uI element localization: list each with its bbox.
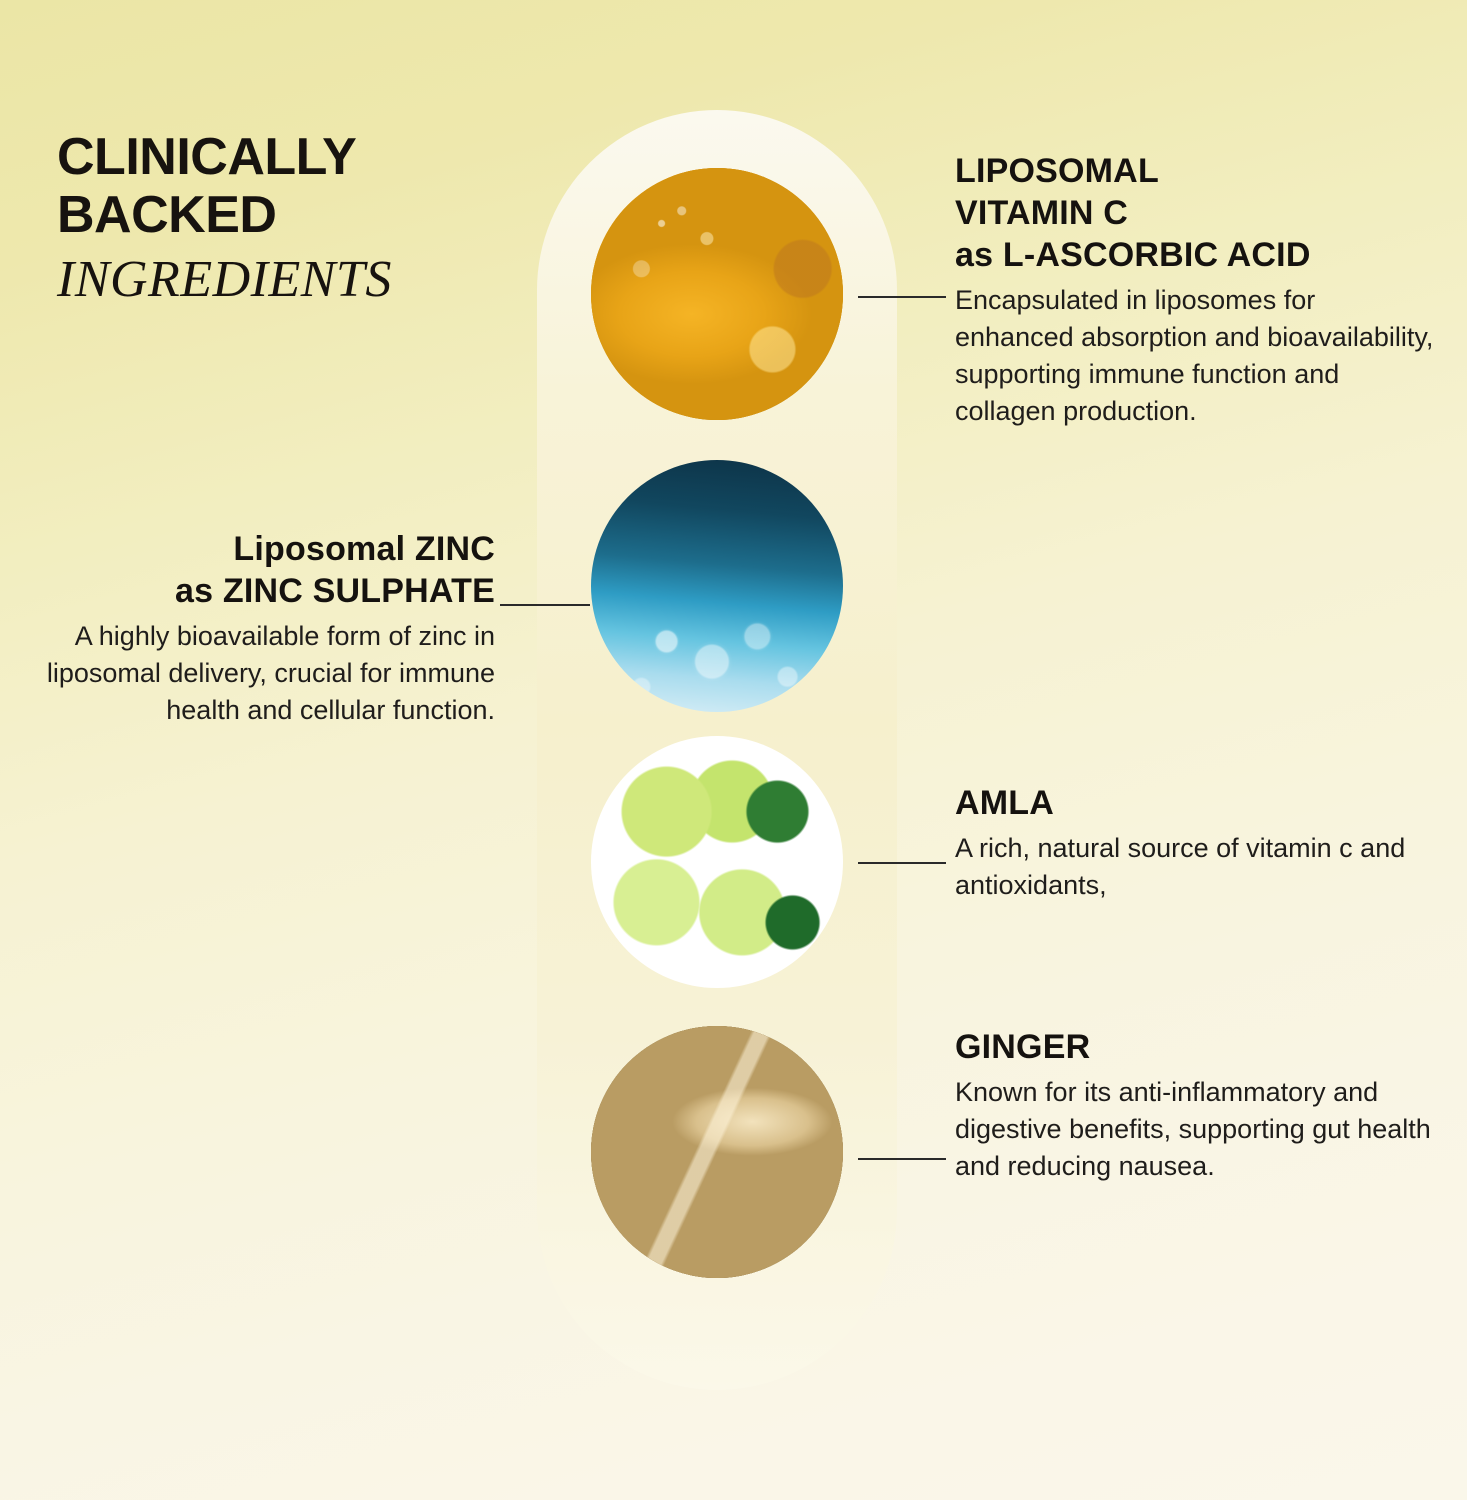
vitamin-c-description: Encapsulated in liposomes for enhanced a… [955, 282, 1435, 430]
title-line-1: CLINICALLY [57, 128, 577, 186]
zinc-heading-line-1: Liposomal ZINC [25, 528, 495, 570]
ingredient-ginger: GINGER Known for its anti-inflammatory a… [955, 1026, 1435, 1185]
zinc-heading-line-2: as ZINC SULPHATE [25, 570, 495, 612]
connector-line-amla [858, 862, 946, 864]
vitamin-c-heading-line-1: LIPOSOMAL [955, 150, 1435, 192]
ginger-image [591, 1026, 843, 1278]
vitamin-c-heading-line-2: VITAMIN C [955, 192, 1435, 234]
zinc-image [591, 460, 843, 712]
page-title: CLINICALLY BACKED INGREDIENTS [57, 128, 577, 312]
ginger-description: Known for its anti-inflammatory and dige… [955, 1074, 1435, 1185]
ginger-heading: GINGER [955, 1026, 1435, 1068]
connector-line-zinc [500, 604, 590, 606]
amla-image [591, 736, 843, 988]
title-line-2: BACKED [57, 186, 577, 244]
title-line-3: INGREDIENTS [57, 248, 577, 312]
ingredient-amla: AMLA A rich, natural source of vitamin c… [955, 782, 1425, 904]
zinc-description: A highly bioavailable form of zinc in li… [25, 618, 495, 729]
ingredient-vitamin-c: LIPOSOMAL VITAMIN C as L-ASCORBIC ACID E… [955, 150, 1435, 430]
vitamin-c-image [591, 168, 843, 420]
connector-line-vitamin-c [858, 296, 946, 298]
connector-line-ginger [858, 1158, 946, 1160]
vitamin-c-heading-line-3: as L-ASCORBIC ACID [955, 234, 1435, 276]
ingredient-zinc: Liposomal ZINC as ZINC SULPHATE A highly… [25, 528, 495, 729]
amla-description: A rich, natural source of vitamin c and … [955, 830, 1425, 904]
amla-heading: AMLA [955, 782, 1425, 824]
